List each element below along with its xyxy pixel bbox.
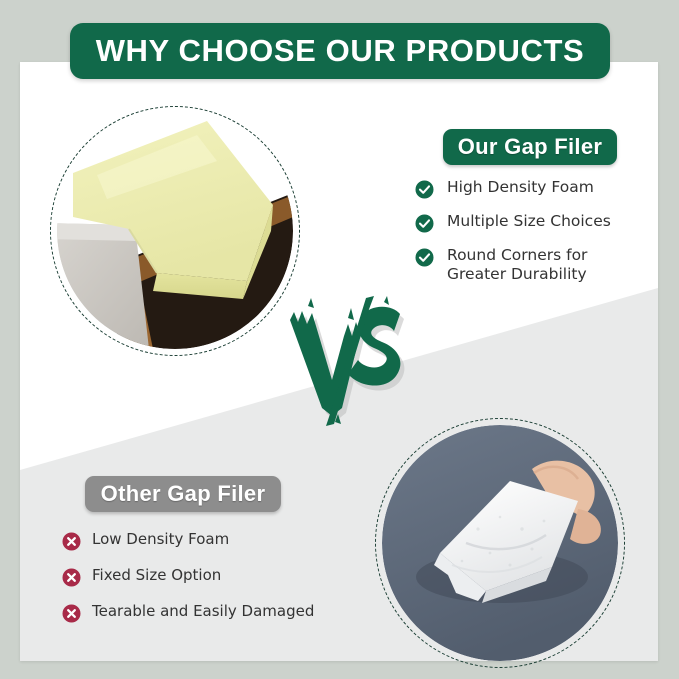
list-item: Tearable and Easily Damaged bbox=[62, 602, 382, 623]
x-circle-icon bbox=[62, 604, 81, 623]
other-gap-filler-label: Other Gap Filer bbox=[101, 481, 266, 507]
our-gap-filler-label: Our Gap Filer bbox=[458, 134, 602, 160]
our-gap-filler-badge: Our Gap Filer bbox=[443, 129, 617, 165]
check-circle-icon bbox=[415, 180, 434, 199]
list-item-label: Multiple Size Choices bbox=[447, 212, 611, 231]
list-item-label: Low Density Foam bbox=[92, 530, 229, 549]
our-features-list: High Density Foam Multiple Size Choices … bbox=[415, 178, 650, 297]
list-item-label: Fixed Size Option bbox=[92, 566, 221, 585]
infographic-canvas: WHY CHOOSE OUR PRODUCTS bbox=[0, 0, 679, 679]
our-gap-filler-image bbox=[57, 113, 293, 349]
header-banner: WHY CHOOSE OUR PRODUCTS bbox=[70, 23, 610, 79]
x-circle-icon bbox=[62, 568, 81, 587]
other-gap-filler-image bbox=[382, 425, 618, 661]
check-circle-icon bbox=[415, 248, 434, 267]
versus-graphic bbox=[288, 296, 413, 426]
check-circle-icon bbox=[415, 214, 434, 233]
list-item: High Density Foam bbox=[415, 178, 650, 199]
other-gap-filler-photo bbox=[375, 418, 625, 668]
list-item-label: Round Corners for Greater Durability bbox=[447, 246, 587, 284]
other-gap-filler-badge: Other Gap Filer bbox=[85, 476, 281, 512]
other-features-list: Low Density Foam Fixed Size Option Teara… bbox=[62, 530, 382, 638]
list-item-label: Tearable and Easily Damaged bbox=[92, 602, 314, 621]
list-item: Low Density Foam bbox=[62, 530, 382, 551]
page-title: WHY CHOOSE OUR PRODUCTS bbox=[96, 33, 585, 69]
our-gap-filler-photo bbox=[50, 106, 300, 356]
list-item-label: High Density Foam bbox=[447, 178, 594, 197]
list-item: Fixed Size Option bbox=[62, 566, 382, 587]
list-item: Multiple Size Choices bbox=[415, 212, 650, 233]
list-item: Round Corners for Greater Durability bbox=[415, 246, 650, 284]
x-circle-icon bbox=[62, 532, 81, 551]
